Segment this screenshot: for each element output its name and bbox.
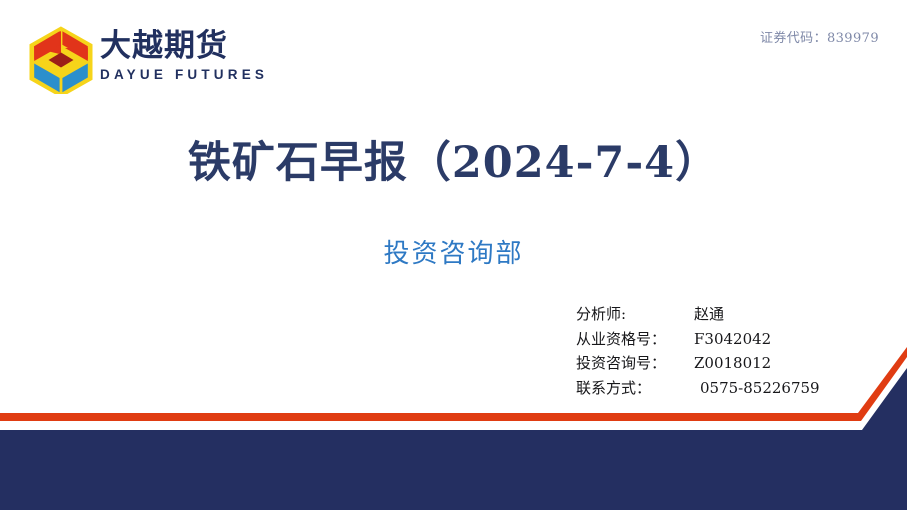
logo-wordmark: 大越期货 DAYUE FUTURES — [100, 28, 290, 90]
logo-chinese-name: 大越期货 — [100, 28, 290, 64]
company-logo: 大越期货 DAYUE FUTURES — [28, 24, 288, 94]
orange-stripe-shape — [0, 347, 907, 421]
navy-band-shape — [0, 368, 907, 510]
page-subtitle: 投资咨询部 — [0, 233, 907, 270]
analyst-value-name: 赵通 — [694, 302, 724, 327]
analyst-label-name: 分析师: — [576, 302, 694, 327]
page-title: 铁矿石早报（2024-7-4） — [0, 128, 907, 190]
stock-code-label: 证券代码：839979 — [760, 27, 879, 46]
logo-english-name: DAYUE FUTURES — [100, 66, 290, 84]
slide-canvas: 大越期货 DAYUE FUTURES 证券代码：839979 铁矿石早报（202… — [0, 0, 907, 510]
bottom-decoration — [0, 340, 907, 510]
analyst-row-name: 分析师: 赵通 — [576, 302, 820, 327]
dayue-hexagon-logo-icon — [28, 26, 94, 94]
